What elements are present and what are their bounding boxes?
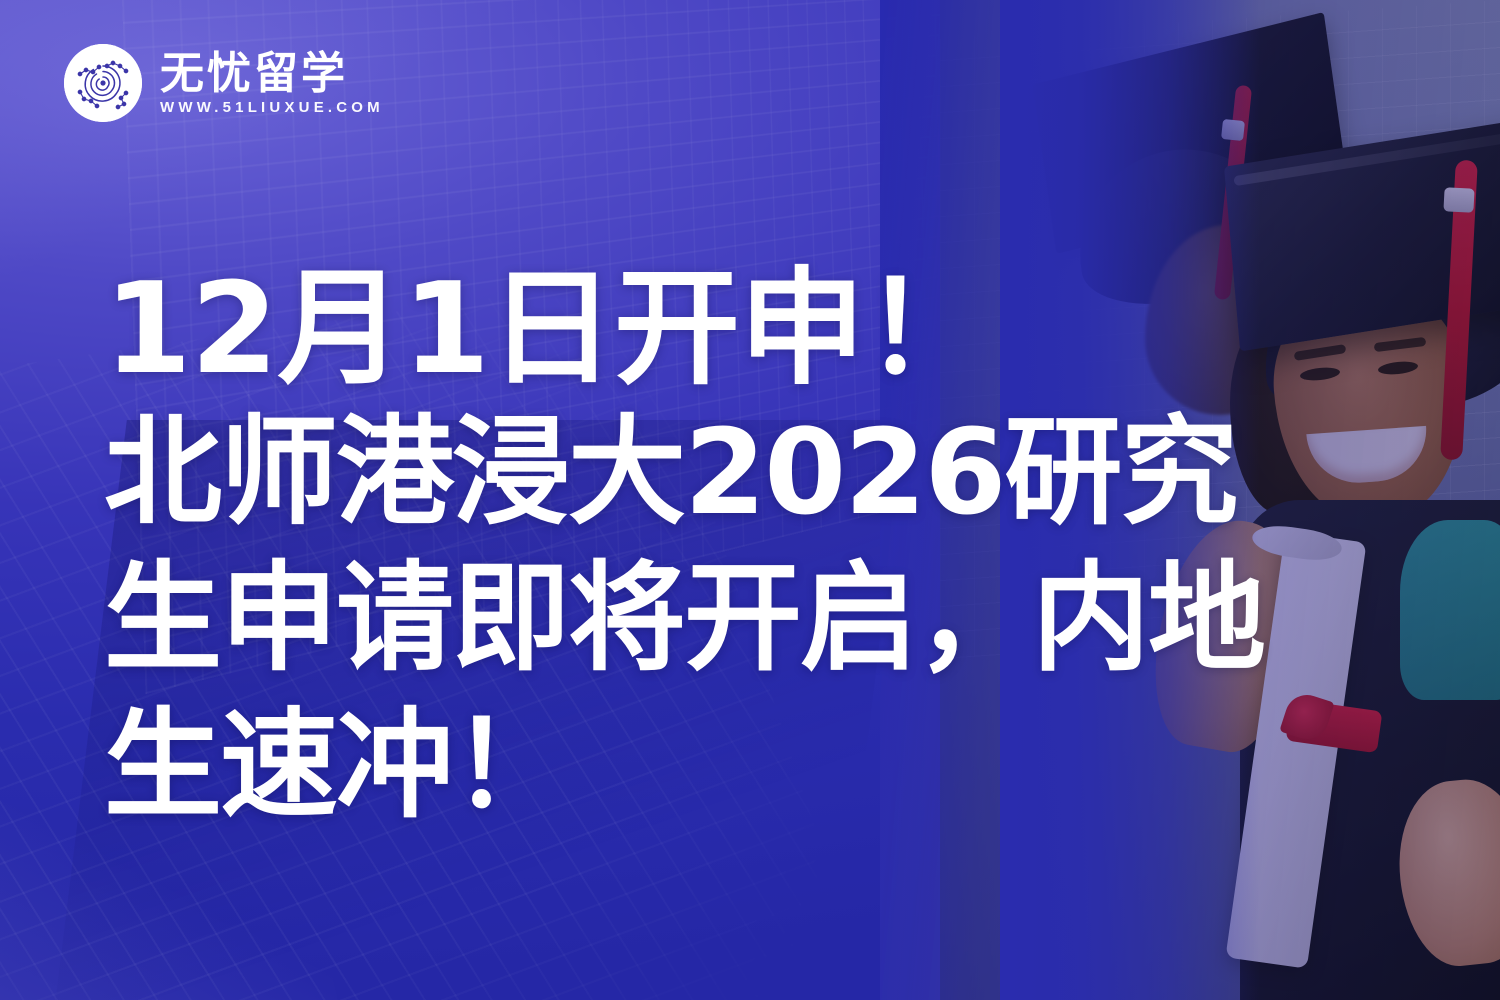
headline-block: 12月1日开申！ 北师港浸大2026研究 生申请即将开启，内地 生速冲！ (104, 258, 1344, 838)
brand-logo-text: 无忧留学 WWW.51LIUXUE.COM (160, 52, 384, 115)
promo-poster: 无忧留学 WWW.51LIUXUE.COM 12月1日开申！ 北师港浸大2026… (0, 0, 1500, 1000)
headline-line-1: 12月1日开申！ (104, 258, 1344, 399)
headline-line-3: 生申请即将开启，内地 (104, 545, 1344, 691)
headline-line-2: 北师港浸大2026研究 (104, 399, 1344, 545)
spiral-galaxy-logo-icon (64, 44, 142, 122)
brand-website: WWW.51LIUXUE.COM (160, 100, 384, 115)
headline-line-4: 生速冲！ (104, 692, 1344, 838)
brand-logo[interactable]: 无忧留学 WWW.51LIUXUE.COM (64, 44, 384, 122)
brand-name: 无忧留学 (160, 52, 384, 96)
